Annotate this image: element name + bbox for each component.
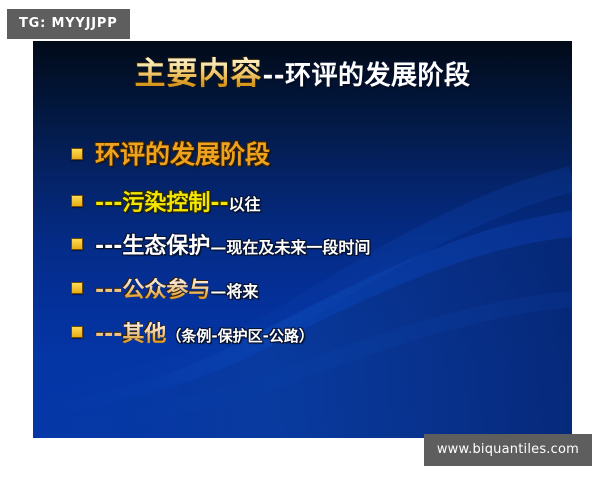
slide-bullet-list: 环评的发展阶段 ---污染控制--以往 ---生态保护—现在及未来一段时间 --…	[71, 135, 541, 348]
list-item-text: ---其他（条例-保护区-公路）	[95, 316, 314, 348]
list-item-segment: —将来	[210, 282, 258, 301]
list-item-text: ---污染控制--以往	[95, 185, 261, 217]
square-bullet-icon	[71, 238, 83, 250]
list-item-segment: —现在及未来一段时间	[210, 238, 370, 257]
list-item-text: 环评的发展阶段	[95, 135, 270, 171]
list-item: ---生态保护—现在及未来一段时间	[71, 228, 541, 260]
list-item-segment: ---其他	[95, 322, 166, 347]
list-item-segment: ---生态保护	[95, 234, 210, 259]
slide-title-white: --环评的发展阶段	[262, 61, 470, 91]
list-item: ---其他（条例-保护区-公路）	[71, 316, 541, 348]
square-bullet-icon	[71, 148, 83, 160]
list-item: ---公众参与—将来	[71, 272, 541, 304]
site-watermark: www.biquantiles.com	[424, 434, 592, 466]
square-bullet-icon	[71, 282, 83, 294]
square-bullet-icon	[71, 326, 83, 338]
list-item-segment: ---污染控制--	[95, 191, 229, 216]
list-item-segment: 环评的发展阶段	[95, 140, 270, 169]
square-bullet-icon	[71, 195, 83, 207]
slide-title: 主要内容--环评的发展阶段	[33, 59, 572, 90]
list-item-segment: ---公众参与	[95, 278, 210, 303]
list-item-segment: （条例-保护区-公路）	[166, 327, 313, 345]
presentation-slide: 主要内容--环评的发展阶段 环评的发展阶段 ---污染控制--以往 ---生态保…	[33, 41, 572, 438]
slide-title-gold: 主要内容	[134, 56, 262, 92]
list-item-text: ---公众参与—将来	[95, 272, 258, 304]
list-item-text: ---生态保护—现在及未来一段时间	[95, 228, 370, 260]
telegram-tag-badge: TG: MYYJJPP	[7, 9, 130, 39]
list-item: 环评的发展阶段	[71, 135, 541, 171]
list-item-segment: 以往	[229, 195, 261, 214]
list-item: ---污染控制--以往	[71, 185, 541, 217]
